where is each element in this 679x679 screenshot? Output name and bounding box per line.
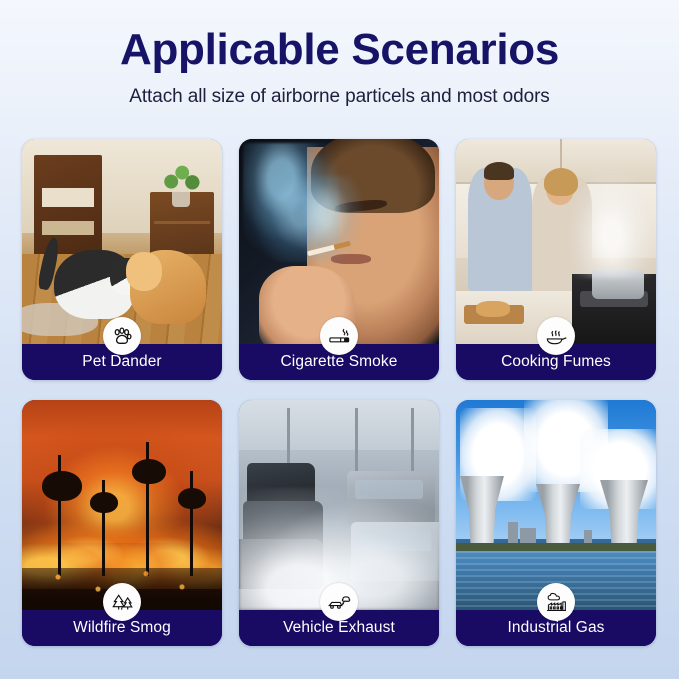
scenario-photo-cigarette-smoke <box>239 139 439 344</box>
scenario-photo-cooking-fumes <box>456 139 656 344</box>
cigarette-icon <box>320 317 358 355</box>
scenario-photo-wildfire-smog <box>22 400 222 610</box>
scenario-card-vehicle-exhaust[interactable]: Vehicle Exhaust <box>239 400 439 646</box>
factory-smoke-icon <box>537 583 575 621</box>
scenario-photo-pet-dander <box>22 139 222 344</box>
scenario-card-industrial-gas[interactable]: Industrial Gas <box>456 400 656 646</box>
page-header: Applicable Scenarios Attach all size of … <box>0 0 679 108</box>
scenario-photo-vehicle-exhaust <box>239 400 439 610</box>
frying-pan-steam-icon <box>537 317 575 355</box>
burning-trees-icon <box>103 583 141 621</box>
paw-print-icon <box>103 317 141 355</box>
scenario-card-wildfire-smog[interactable]: Wildfire Smog <box>22 400 222 646</box>
car-exhaust-icon <box>320 583 358 621</box>
page-title: Applicable Scenarios <box>0 26 679 74</box>
applicable-scenarios-page: Applicable Scenarios Attach all size of … <box>0 0 679 679</box>
scenario-photo-industrial-gas <box>456 400 656 610</box>
scenario-grid: Pet Dander <box>22 139 657 646</box>
scenario-card-pet-dander[interactable]: Pet Dander <box>22 139 222 380</box>
page-subtitle: Attach all size of airborne particels an… <box>0 86 679 108</box>
scenario-card-cigarette-smoke[interactable]: Cigarette Smoke <box>239 139 439 380</box>
scenario-card-cooking-fumes[interactable]: Cooking Fumes <box>456 139 656 380</box>
